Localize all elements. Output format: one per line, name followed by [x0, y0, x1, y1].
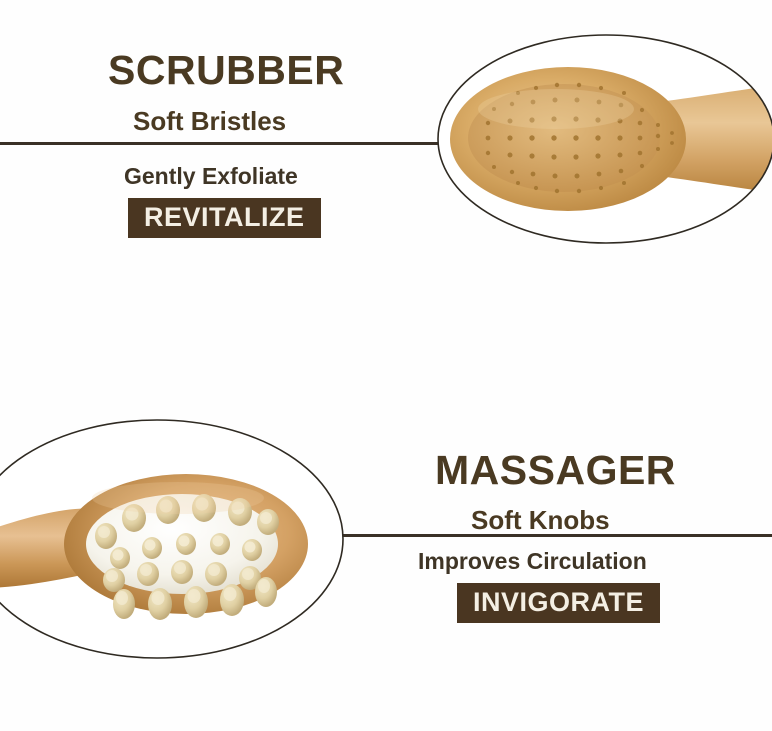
scrubber-title: SCRUBBER [108, 50, 344, 91]
massager-image-callout [0, 418, 346, 660]
scrubber-subtitle: Soft Bristles [133, 108, 286, 134]
massager-text-panel: MASSAGER Soft Knobs Improves Circulation… [340, 430, 772, 650]
massager-benefit: Improves Circulation [418, 550, 647, 573]
scrubber-badge-wrap: REVITALIZE [128, 198, 321, 238]
massager-divider [341, 534, 772, 537]
scrubber-divider [0, 142, 441, 145]
status-badge-revitalize: REVITALIZE [128, 198, 321, 238]
bristle-brush-head-icon [436, 33, 772, 249]
scrubber-text-panel: SCRUBBER Soft Bristles Gently Exfoliate … [0, 0, 440, 260]
knob-massager-head-icon [0, 418, 346, 660]
massager-badge-wrap: INVIGORATE [457, 583, 660, 623]
status-badge-invigorate: INVIGORATE [457, 583, 660, 623]
product-infographic: SCRUBBER Soft Bristles Gently Exfoliate … [0, 0, 772, 731]
scrubber-image-callout [436, 33, 772, 249]
scrubber-benefit: Gently Exfoliate [124, 165, 298, 188]
massager-subtitle: Soft Knobs [471, 507, 610, 533]
massager-title: MASSAGER [435, 450, 676, 491]
